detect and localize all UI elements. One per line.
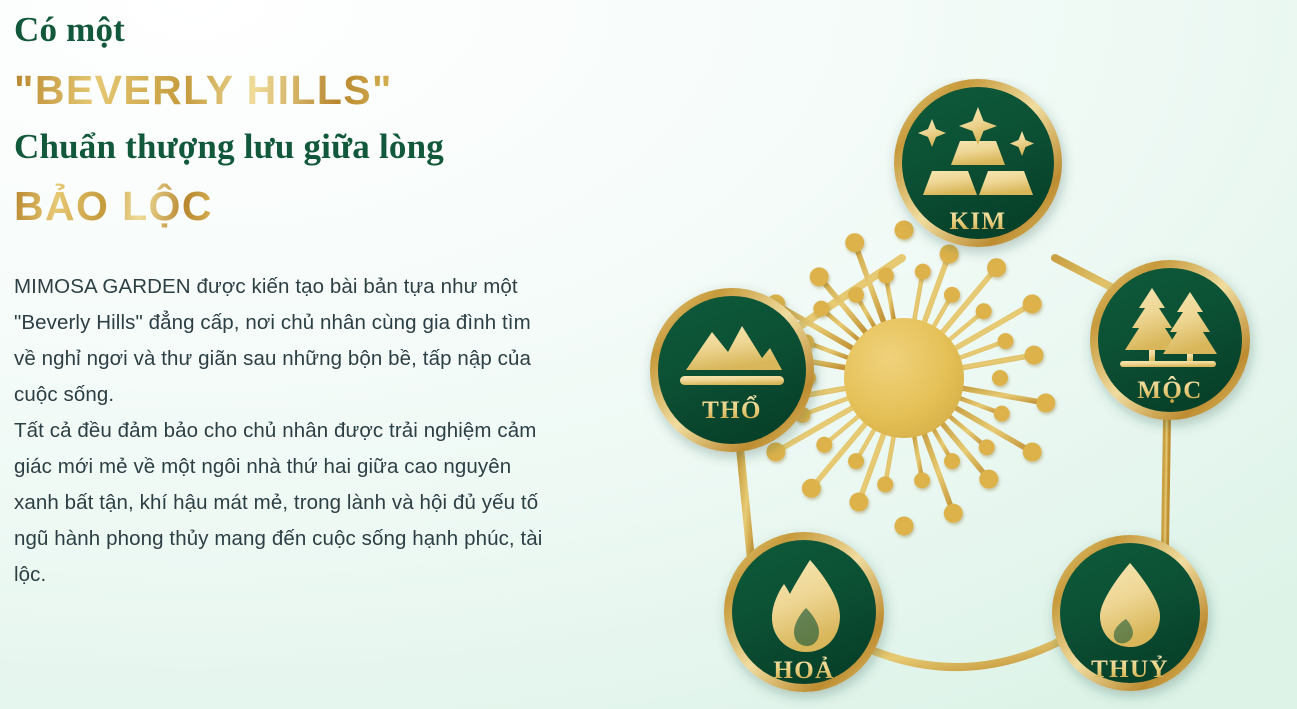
sunburst-ray-dot bbox=[849, 493, 868, 512]
sunburst-ray bbox=[924, 254, 949, 324]
sunburst-ray-dot bbox=[848, 287, 864, 303]
headline-line-2-wrap: "BEVERLY HILLS" bbox=[14, 61, 574, 119]
sunburst-ray-dot bbox=[810, 267, 829, 286]
sunburst-ray-dot bbox=[1023, 295, 1042, 314]
sunburst-ray-dot bbox=[878, 268, 894, 284]
sunburst-ray-dot bbox=[914, 472, 930, 488]
ngu-hanh-diagram: KIM MỘC bbox=[612, 78, 1297, 709]
sunburst-ray-dot bbox=[915, 264, 931, 280]
link-tho-hoa bbox=[740, 448, 752, 570]
sunburst-ray-dot bbox=[802, 479, 821, 498]
sunburst-ray-dot bbox=[895, 517, 914, 536]
sunburst-ray-dot bbox=[940, 245, 959, 264]
body-paragraph-1: MIMOSA GARDEN được kiến tạo bài bản tựa … bbox=[14, 269, 552, 413]
sunburst-ray-dot bbox=[979, 470, 998, 489]
headline-line-3: Chuẩn thượng lưu giữa lòng bbox=[14, 121, 574, 173]
sunburst-ray bbox=[961, 388, 1046, 403]
sunburst-ray-dot bbox=[1023, 443, 1042, 462]
link-moc-thuy bbox=[1165, 418, 1167, 548]
sunburst-ray bbox=[859, 433, 884, 503]
sunburst-ray-dot bbox=[994, 406, 1010, 422]
node-thuy-label: THUỶ bbox=[1091, 655, 1169, 683]
sunburst-ray bbox=[924, 433, 954, 514]
sunburst-ray-dot bbox=[1025, 346, 1044, 365]
sunburst-ray-dot bbox=[1036, 394, 1055, 413]
sunburst-ray-dot bbox=[992, 370, 1008, 386]
node-tho-label: THỔ bbox=[702, 395, 762, 424]
node-hoa[interactable]: HOẢ bbox=[724, 532, 884, 692]
node-kim[interactable]: KIM bbox=[894, 79, 1062, 247]
node-tho[interactable]: THỔ bbox=[650, 288, 814, 452]
sunburst-ray-dot bbox=[944, 287, 960, 303]
sunburst-ray-dot bbox=[895, 221, 914, 240]
node-moc-label: MỘC bbox=[1137, 376, 1202, 404]
sunburst-ray-dot bbox=[848, 453, 864, 469]
node-hoa-label: HOẢ bbox=[773, 656, 834, 684]
sunburst-ray-dot bbox=[877, 476, 893, 492]
copy-block: Có một "BEVERLY HILLS" Chuẩn thượng lưu … bbox=[14, 4, 574, 593]
body-copy: MIMOSA GARDEN được kiến tạo bài bản tựa … bbox=[14, 269, 552, 593]
sunburst-ray-dot bbox=[998, 333, 1014, 349]
sunburst-ray-dot bbox=[816, 437, 832, 453]
node-moc[interactable]: MỘC bbox=[1090, 260, 1250, 420]
sunburst-ray bbox=[961, 355, 1034, 368]
headline-line-2: "BEVERLY HILLS" bbox=[14, 61, 393, 119]
sunburst-ray-dot bbox=[813, 301, 829, 317]
sunburst-ray-dot bbox=[766, 443, 785, 462]
node-thuy[interactable]: THUỶ bbox=[1052, 535, 1208, 691]
sunburst-ray-dot bbox=[976, 303, 992, 319]
sunburst-ray-dot bbox=[987, 258, 1006, 277]
body-paragraph-2: Tất cả đều đảm bảo cho chủ nhân được trả… bbox=[14, 413, 552, 593]
headline-line-4: BẢO LỘC bbox=[14, 177, 213, 235]
node-kim-label: KIM bbox=[950, 208, 1007, 235]
sunburst-ray-dot bbox=[845, 233, 864, 252]
headline-line-4-wrap: BẢO LỘC bbox=[14, 177, 574, 235]
sunburst-ray-dot bbox=[979, 439, 995, 455]
sunburst-hub bbox=[844, 318, 964, 438]
sunburst-ray-dot bbox=[944, 453, 960, 469]
sunburst-ray-dot bbox=[944, 504, 963, 523]
headline-line-1: Có một bbox=[14, 4, 574, 56]
slide-root: Có một "BEVERLY HILLS" Chuẩn thượng lưu … bbox=[0, 0, 1297, 709]
